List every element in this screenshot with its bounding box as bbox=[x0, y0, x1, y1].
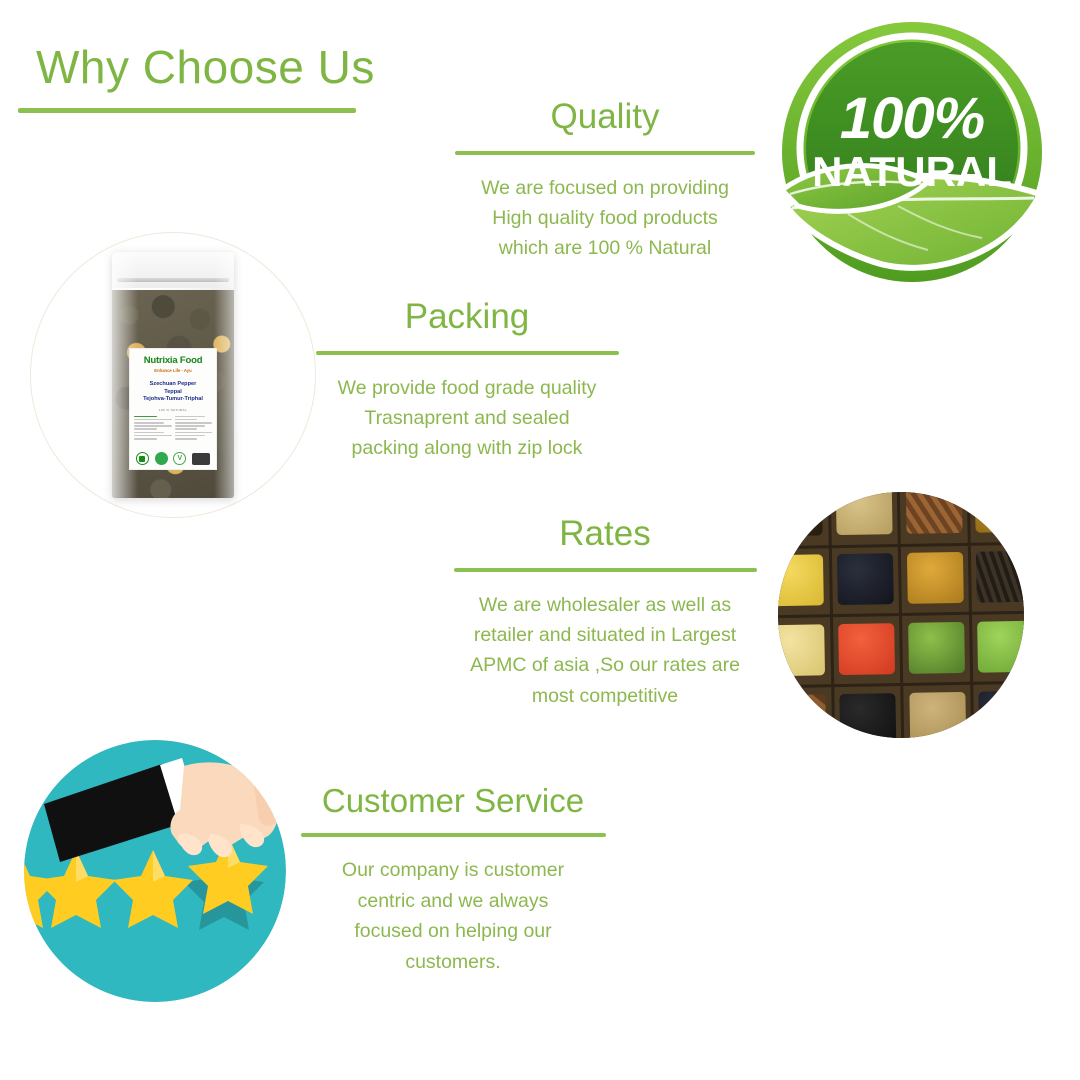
customer-service-illustration bbox=[22, 738, 288, 1004]
spice-bin bbox=[833, 617, 901, 685]
product-label: Nutrixia Food Enhance Life - Ayu Szechua… bbox=[129, 348, 217, 470]
section-packing-line-1: We provide food grade quality bbox=[302, 373, 632, 403]
section-rates-line-3: APMC of asia ,So our rates are bbox=[440, 650, 770, 680]
badge-natural-text: NATURAL bbox=[812, 148, 1012, 195]
spice-bin bbox=[778, 492, 829, 546]
spice-bin bbox=[970, 492, 1024, 543]
product-name-line-1: Szechuan Pepper bbox=[143, 381, 203, 389]
section-quality-line-2: High quality food products bbox=[440, 203, 770, 233]
spice-market-image bbox=[778, 492, 1024, 738]
section-rates-line-4: most competitive bbox=[440, 681, 770, 711]
section-customer-service-line-2: centric and we always bbox=[288, 886, 618, 916]
spice-bin bbox=[972, 614, 1024, 682]
spice-bin bbox=[900, 492, 968, 544]
section-customer-service-line-3: focused on helping our bbox=[288, 916, 618, 946]
product-label-tagline: Enhance Life - Ayu bbox=[154, 368, 191, 373]
section-quality-title: Quality bbox=[440, 98, 770, 137]
spice-bin bbox=[903, 615, 971, 683]
product-package-image: Nutrixia Food Enhance Life - Ayu Szechua… bbox=[30, 232, 316, 518]
section-customer-service-divider bbox=[301, 833, 606, 837]
fssai-mark-icon bbox=[192, 453, 210, 465]
spice-bin bbox=[973, 684, 1024, 738]
page-title-underline bbox=[18, 108, 356, 113]
spice-bin bbox=[834, 686, 902, 738]
spice-bin bbox=[832, 547, 900, 615]
fineprint-col-left bbox=[134, 416, 172, 442]
badge-percent-text: 100% bbox=[840, 86, 984, 151]
section-packing-line-3: packing along with zip lock bbox=[302, 433, 632, 463]
section-rates-line-2: retailer and situated in Largest bbox=[440, 620, 770, 650]
section-packing-body: We provide food grade quality Trasnapren… bbox=[302, 373, 632, 464]
spice-bin bbox=[778, 548, 830, 616]
hundred-percent-natural-badge: 100% NATURAL bbox=[778, 18, 1046, 286]
section-quality-line-1: We are focused on providing bbox=[440, 173, 770, 203]
section-customer-service-body: Our company is customer centric and we a… bbox=[288, 855, 618, 977]
vegan-seal-icon bbox=[173, 452, 186, 465]
spice-bin bbox=[778, 687, 832, 738]
spice-bins-grid bbox=[778, 492, 1024, 738]
section-customer-service: Customer Service Our company is customer… bbox=[288, 783, 618, 977]
section-rates: Rates We are wholesaler as well as retai… bbox=[440, 515, 770, 711]
product-label-name: Szechuan Pepper Teppal Tejohva-Tumur-Tri… bbox=[143, 381, 203, 404]
section-rates-line-1: We are wholesaler as well as bbox=[440, 590, 770, 620]
organic-seal-icon bbox=[155, 452, 168, 465]
section-packing-line-2: Trasnaprent and sealed bbox=[302, 403, 632, 433]
veg-mark-icon bbox=[136, 452, 149, 465]
spice-bin bbox=[971, 544, 1024, 612]
product-label-natural-note: 100 % NATURAL bbox=[159, 408, 187, 412]
product-label-fineprint bbox=[134, 416, 212, 442]
section-rates-divider bbox=[454, 568, 757, 572]
product-name-line-3: Tejohva-Tumur-Triphal bbox=[143, 396, 203, 404]
section-customer-service-title: Customer Service bbox=[288, 783, 618, 819]
product-pouch: Nutrixia Food Enhance Life - Ayu Szechua… bbox=[112, 252, 234, 498]
spice-bin bbox=[830, 492, 898, 545]
infographic-canvas: Why Choose Us bbox=[0, 0, 1080, 1080]
section-packing-divider bbox=[316, 351, 619, 355]
section-rates-title: Rates bbox=[440, 515, 770, 554]
page-title: Why Choose Us bbox=[36, 40, 375, 94]
section-quality-line-3: which are 100 % Natural bbox=[440, 233, 770, 263]
section-quality-divider bbox=[455, 151, 755, 155]
section-packing: Packing We provide food grade quality Tr… bbox=[302, 298, 632, 464]
spice-bin bbox=[778, 618, 831, 686]
section-quality-body: We are focused on providing High quality… bbox=[440, 173, 770, 264]
section-rates-body: We are wholesaler as well as retailer an… bbox=[440, 590, 770, 712]
pouch-sheen-right bbox=[214, 252, 234, 498]
section-customer-service-line-4: customers. bbox=[288, 947, 618, 977]
product-label-brand: Nutrixia Food bbox=[144, 355, 203, 366]
spice-bin bbox=[904, 685, 972, 738]
section-customer-service-line-1: Our company is customer bbox=[288, 855, 618, 885]
product-name-line-2: Teppal bbox=[143, 389, 203, 397]
spice-bin bbox=[901, 546, 969, 614]
section-packing-title: Packing bbox=[302, 298, 632, 337]
fineprint-col-right bbox=[175, 416, 213, 442]
section-quality: Quality We are focused on providing High… bbox=[440, 98, 770, 264]
product-certification-badges bbox=[130, 452, 216, 465]
